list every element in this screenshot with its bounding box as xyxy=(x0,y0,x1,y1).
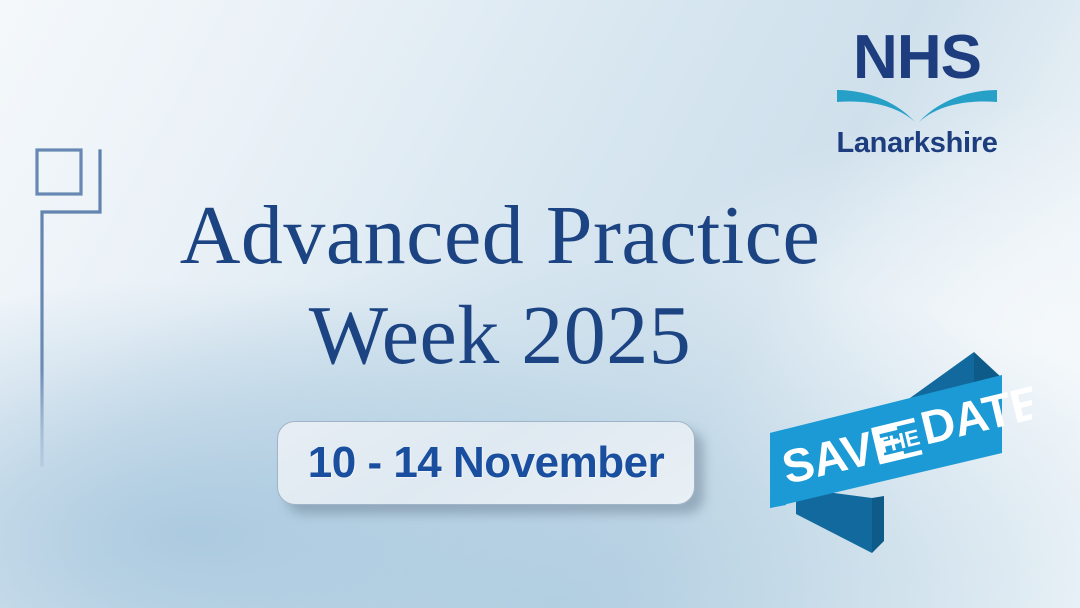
ribbon-tail-bottom-fold xyxy=(872,496,884,553)
nhs-board-name: Lanarkshire xyxy=(832,128,1002,158)
poster-canvas: NHS Lanarkshire Advanced Practice Week 2… xyxy=(0,0,1080,608)
nhs-wordmark: NHS xyxy=(832,26,1002,90)
ribbon-graphic: SAVE THE DATE xyxy=(762,338,1032,563)
ornament-step-path xyxy=(42,151,100,465)
date-badge-label: 10 - 14 November xyxy=(308,438,664,488)
save-the-date-ribbon: SAVE THE DATE xyxy=(762,338,1032,563)
nhs-wave-icon xyxy=(835,86,999,128)
nhs-lanarkshire-logo: NHS Lanarkshire xyxy=(832,26,1002,154)
title-line-1: Advanced Practice xyxy=(120,186,880,286)
ornament-square xyxy=(37,150,81,194)
date-badge: 10 - 14 November xyxy=(277,421,695,505)
